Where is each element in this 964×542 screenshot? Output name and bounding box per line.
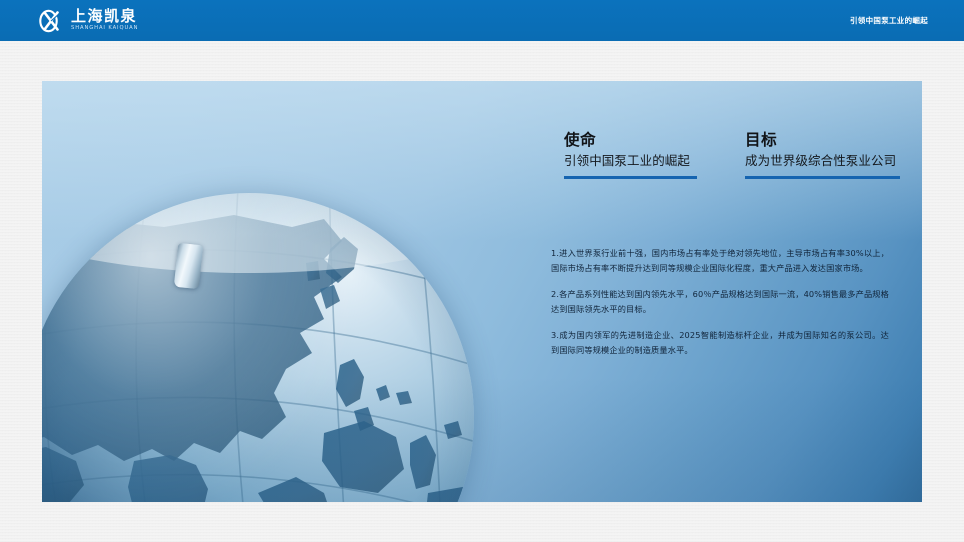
slide-content: 使命 引领中国泵工业的崛起 目标 成为世界级综合性泵业公司 1.进入世界泵行业前…: [520, 81, 922, 502]
globe-sphere: [42, 193, 474, 502]
goal-block: 目标 成为世界级综合性泵业公司: [745, 131, 901, 179]
mission-block: 使命 引领中国泵工业的崛起: [564, 131, 720, 179]
app-header-bar: 上海凯泉 SHANGHAI KAIQUAN 引领中国泵工业的崛起: [0, 0, 964, 41]
header-slogan: 引领中国泵工业的崛起: [850, 0, 928, 41]
kaiquan-emblem-icon: [36, 6, 66, 36]
mission-title: 使命: [564, 131, 720, 150]
headings-row: 使命 引领中国泵工业的崛起 目标 成为世界级综合性泵业公司: [564, 131, 901, 179]
body-paragraph-2: 2.各产品系列性能达到国内领先水平，60％产品规格达到国际一流，40%销售最多产…: [551, 287, 889, 316]
globe-map-surface: [42, 193, 474, 502]
mission-subtitle: 引领中国泵工业的崛起: [564, 153, 720, 169]
body-copy: 1.进入世界泵行业前十强，国内市场占有率处于绝对领先地位，主导市场占有率30%以…: [551, 246, 889, 358]
brand-name-cn: 上海凯泉: [71, 9, 138, 24]
goal-title: 目标: [745, 131, 901, 150]
slide-canvas: 使命 引领中国泵工业的崛起 目标 成为世界级综合性泵业公司 1.进入世界泵行业前…: [42, 81, 922, 502]
brand-logo[interactable]: 上海凯泉 SHANGHAI KAIQUAN: [36, 5, 138, 36]
mission-underline: [564, 176, 697, 179]
body-paragraph-1: 1.进入世界泵行业前十强，国内市场占有率处于绝对领先地位，主导市场占有率30%以…: [551, 246, 889, 275]
goal-underline: [745, 176, 900, 179]
brand-name-en: SHANGHAI KAIQUAN: [71, 26, 138, 31]
body-paragraph-3: 3.成为国内领军的先进制造企业、2025智能制造标杆企业，并成为国际知名的泵公司…: [551, 328, 889, 357]
goal-subtitle: 成为世界级综合性泵业公司: [745, 153, 901, 169]
globe-illustration: [42, 81, 522, 502]
